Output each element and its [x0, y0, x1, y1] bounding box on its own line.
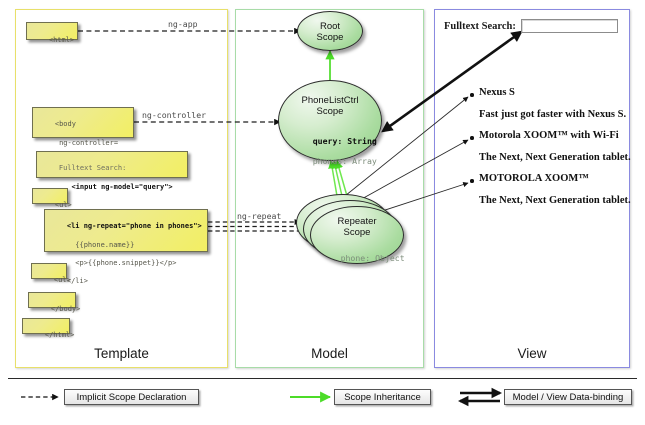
code-text: <html> [49, 36, 74, 44]
legend-divider [8, 378, 637, 379]
code-text-line2: {{phone.name}} [67, 241, 134, 249]
code-box-search-markup: Fulltext Search: <input ng-model="query"… [36, 151, 188, 178]
list-item-snippet: The Next, Next Generation tablet. [479, 152, 631, 163]
prop-phone: phone: Object [341, 253, 405, 263]
code-box-html-open: <html> [26, 22, 78, 40]
legend-item-scope-inheritance: Scope Inheritance [334, 389, 431, 405]
scope-repeater-front: RepeaterScope phone: Object [310, 206, 404, 264]
list-bullet [470, 136, 474, 140]
scope-root: RootScope [297, 11, 363, 51]
diagram-root: Template Model View [0, 0, 645, 425]
panel-model-title: Model [236, 346, 423, 361]
fulltext-search-input[interactable] [521, 19, 618, 33]
code-box-ul-close: <ul> [31, 263, 67, 279]
list-item-snippet: The Next, Next Generation tablet. [479, 195, 631, 206]
legend-item-model-view-data-binding: Model / View Data-binding [504, 389, 632, 405]
code-text-line1: Fulltext Search: [59, 164, 126, 172]
edge-label-ng-app: ng-app [168, 19, 198, 29]
code-box-html-close: </html> [22, 318, 70, 334]
list-item-snippet: Fast just got faster with Nexus S. [479, 109, 626, 120]
code-box-body-close: </body> [28, 292, 76, 308]
code-text-line1: <body [55, 120, 76, 128]
scope-root-label: RootScope [298, 21, 362, 43]
code-text-line1: <li ng-repeat="phone in phones"> [67, 222, 202, 230]
code-text: <ul> [54, 276, 71, 284]
list-bullet [470, 93, 474, 97]
list-item-name: MOTOROLA XOOM™ [479, 173, 589, 184]
code-text: </html> [45, 331, 75, 339]
fulltext-search-label: Fulltext Search: [444, 21, 516, 32]
panel-template-title: Template [16, 346, 227, 361]
code-box-body-open: <body ng-controller= "PhoneListCtrl"> [32, 107, 134, 138]
list-item-name: Nexus S [479, 87, 515, 98]
legend-item-implicit-scope-declaration: Implicit Scope Declaration [64, 389, 199, 405]
edge-label-ng-repeat: ng-repeat [237, 211, 281, 221]
scope-repeater-label: RepeaterScope [311, 216, 403, 238]
scope-repeater-props: phone: Object [311, 243, 403, 273]
code-text: <ul> [55, 201, 72, 209]
code-box-li-repeat: <li ng-repeat="phone in phones"> {{phone… [44, 209, 208, 252]
panel-model: Model [235, 9, 424, 368]
code-text-line3: <p>{{phone.snippet}}</p> [67, 259, 177, 267]
scope-phonelistctrl-label: PhoneListCtrlScope [279, 95, 381, 117]
list-bullet [470, 179, 474, 183]
prop-query: query: String [313, 136, 377, 146]
code-text-line2: <input ng-model="query"> [59, 183, 173, 191]
edge-label-ng-controller: ng-controller [142, 110, 206, 120]
code-text-line2: ng-controller= [55, 139, 118, 147]
panel-view: View [434, 9, 630, 368]
panel-view-title: View [435, 346, 629, 361]
list-item-name: Motorola XOOM™ with Wi-Fi [479, 130, 619, 141]
scope-phonelistctrl-props: query: String phones: Array [279, 126, 381, 176]
scope-phonelistctrl: PhoneListCtrlScope query: String phones:… [278, 80, 382, 161]
prop-phones: phones: Array [313, 156, 377, 166]
code-text: </body> [51, 305, 81, 313]
code-box-ul-open: <ul> [32, 188, 68, 204]
